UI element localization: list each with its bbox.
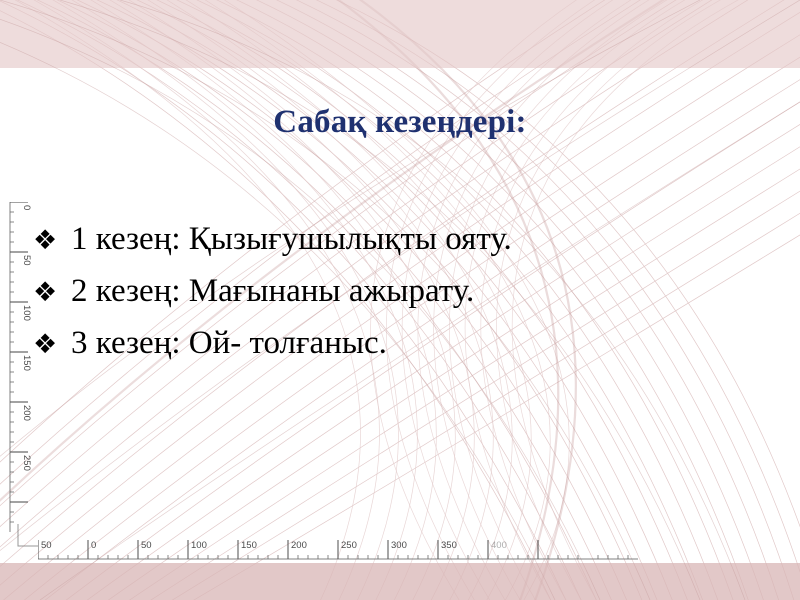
ruler-v-label: 200 (21, 405, 32, 421)
vertical-ruler[interactable]: 0 50 100 150 200 250 (8, 202, 34, 532)
diamond-bullet-icon: ❖ (33, 215, 71, 267)
ruler-v-label: 50 (21, 255, 32, 266)
list-item: ❖ 3 кезең: Ой- толғаныс. (33, 317, 773, 369)
ruler-h-label: 50 (41, 540, 52, 551)
list-item: ❖ 2 кезең: Мағынаны ажырату. (33, 265, 773, 317)
ruler-v-label: 0 (21, 205, 32, 210)
bottom-accent-band (0, 563, 800, 600)
ruler-h-label: 250 (341, 540, 357, 551)
diamond-bullet-icon: ❖ (33, 267, 71, 319)
diamond-bullet-icon: ❖ (33, 319, 71, 371)
ruler-h-label: 0 (91, 540, 96, 551)
slide-canvas: 50 0 50 100 150 200 250 300 350 400 (0, 0, 800, 600)
ruler-h-label: 400 (491, 540, 507, 551)
ruler-h-label: 300 (391, 540, 407, 551)
ruler-h-label: 100 (191, 540, 207, 551)
list-item: ❖ 1 кезең: Қызығушылықты ояту. (33, 213, 773, 265)
ruler-h-label: 50 (141, 540, 152, 551)
ruler-v-label: 150 (21, 355, 32, 371)
ruler-corner-joint (8, 524, 38, 556)
bullet-list: ❖ 1 кезең: Қызығушылықты ояту. ❖ 2 кезең… (33, 213, 773, 369)
ruler-v-label: 100 (21, 305, 32, 321)
list-item-label: 1 кезең: Қызығушылықты ояту. (71, 213, 773, 265)
ruler-v-label: 250 (21, 455, 32, 471)
list-item-label: 2 кезең: Мағынаны ажырату. (71, 265, 773, 317)
ruler-h-label: 150 (241, 540, 257, 551)
horizontal-ruler[interactable]: 50 0 50 100 150 200 250 300 350 400 (38, 534, 638, 560)
top-accent-band (0, 0, 800, 68)
ruler-h-label: 200 (291, 540, 307, 551)
list-item-label: 3 кезең: Ой- толғаныс. (71, 317, 773, 369)
page-title: Сабақ кезеңдері: (0, 100, 800, 144)
ruler-h-label: 350 (441, 540, 457, 551)
